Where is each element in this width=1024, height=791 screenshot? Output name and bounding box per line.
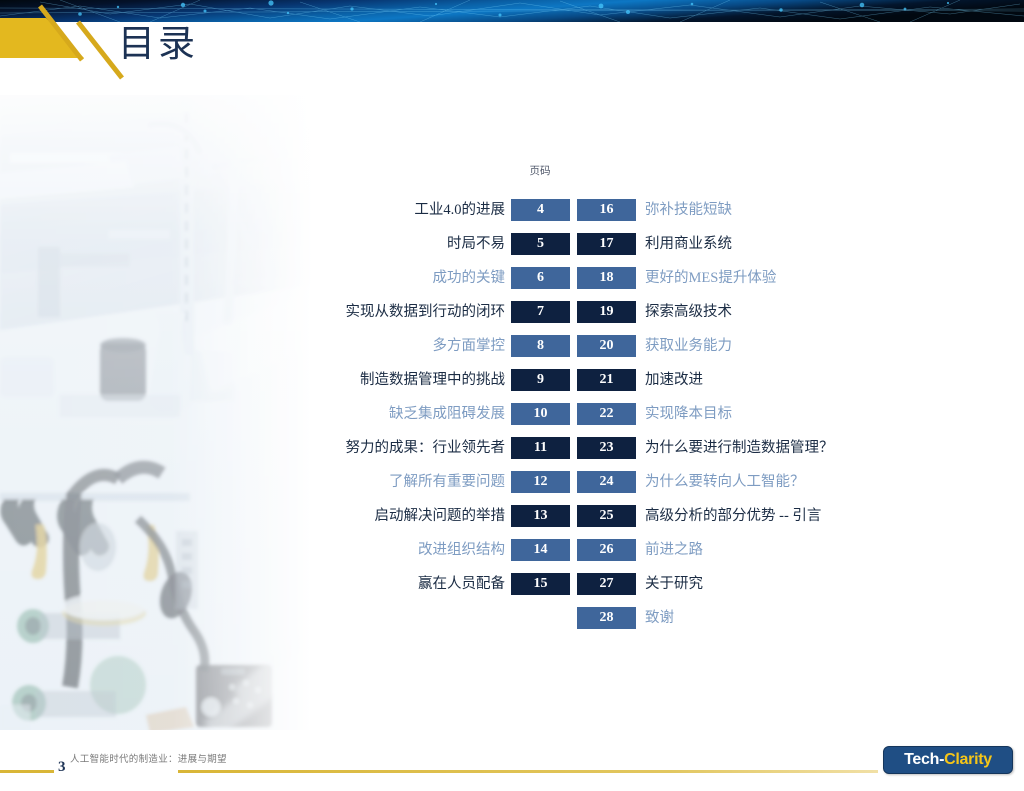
table-row[interactable]: 了解所有重要问题 12 24 为什么要转向人工智能？ [320, 471, 1010, 493]
logo-text-secondary: Clarity [944, 751, 992, 768]
table-row[interactable]: 工业4.0的进展 4 16 弥补技能短缺 [320, 199, 1010, 221]
table-row[interactable]: 制造数据管理中的挑战 9 21 加速改进 [320, 369, 1010, 391]
table-row[interactable]: 实现从数据到行动的闭环 7 19 探索高级技术 [320, 301, 1010, 323]
toc-right-label[interactable]: 致谢 [645, 608, 1005, 628]
toc-right-label[interactable]: 更好的MES提升体验 [645, 268, 1005, 288]
toc-right-page[interactable]: 27 [577, 573, 636, 595]
toc-left-label[interactable]: 制造数据管理中的挑战 [320, 370, 505, 390]
table-row[interactable]: 赢在人员配备 15 27 关于研究 [320, 573, 1010, 595]
toc-left-page[interactable]: 12 [511, 471, 570, 493]
toc-right-label[interactable]: 为什么要转向人工智能？ [645, 472, 1005, 492]
toc-left-label[interactable]: 时局不易 [320, 234, 505, 254]
toc-right-page[interactable]: 18 [577, 267, 636, 289]
table-row[interactable]: 成功的关键 6 18 更好的MES提升体验 [320, 267, 1010, 289]
toc-right-page[interactable]: 16 [577, 199, 636, 221]
toc-right-page[interactable]: 25 [577, 505, 636, 527]
toc-right-label[interactable]: 前进之路 [645, 540, 1005, 560]
table-row[interactable]: 努力的成果：行业领先者 11 23 为什么要进行制造数据管理？ [320, 437, 1010, 459]
toc-left-page[interactable]: 8 [511, 335, 570, 357]
toc-left-page[interactable]: 15 [511, 573, 570, 595]
factory-workbench-photo [0, 95, 312, 730]
table-row[interactable]: 多方面掌控 8 20 获取业务能力 [320, 335, 1010, 357]
table-row[interactable]: 启动解决问题的举措 13 25 高级分析的部分优势 -- 引言 [320, 505, 1010, 527]
toc-right-page[interactable]: 26 [577, 539, 636, 561]
toc-left-page[interactable]: 14 [511, 539, 570, 561]
footer-document-title: 人工智能时代的制造业：进展与期望 [70, 751, 227, 765]
footer-rule-right [178, 770, 878, 773]
toc-left-label[interactable]: 努力的成果：行业领先者 [320, 438, 505, 458]
toc-right-page[interactable]: 28 [577, 607, 636, 629]
toc-left-page[interactable]: 9 [511, 369, 570, 391]
tech-clarity-logo[interactable]: Tech-Clarity [883, 746, 1013, 774]
yellow-parallelogram-accent [0, 0, 420, 100]
table-row[interactable]: 28 致谢 [320, 607, 1010, 629]
toc-right-label[interactable]: 利用商业系统 [645, 234, 1005, 254]
toc-left-page[interactable]: 6 [511, 267, 570, 289]
toc-right-page[interactable]: 22 [577, 403, 636, 425]
toc-left-page [511, 607, 570, 629]
toc-left-label[interactable]: 赢在人员配备 [320, 574, 505, 594]
toc-right-label[interactable]: 获取业务能力 [645, 336, 1005, 356]
toc-left-label[interactable]: 改进组织结构 [320, 540, 505, 560]
toc-right-page[interactable]: 24 [577, 471, 636, 493]
toc-left-page[interactable]: 5 [511, 233, 570, 255]
toc-left-label[interactable]: 启动解决问题的举措 [320, 506, 505, 526]
page-column-header: 页码 [510, 163, 570, 178]
toc-right-label[interactable]: 高级分析的部分优势 -- 引言 [645, 506, 1005, 526]
toc-left-page[interactable]: 4 [511, 199, 570, 221]
toc-left-label[interactable]: 实现从数据到行动的闭环 [320, 302, 505, 322]
logo-text-primary: Tech- [904, 751, 944, 768]
toc-right-label[interactable]: 探索高级技术 [645, 302, 1005, 322]
toc-right-label[interactable]: 实现降本目标 [645, 404, 1005, 424]
table-row[interactable]: 时局不易 5 17 利用商业系统 [320, 233, 1010, 255]
toc-left-label[interactable]: 多方面掌控 [320, 336, 505, 356]
toc-right-label[interactable]: 弥补技能短缺 [645, 200, 1005, 220]
toc-left-label[interactable]: 了解所有重要问题 [320, 472, 505, 492]
toc-left-page[interactable]: 7 [511, 301, 570, 323]
toc-left-page[interactable]: 11 [511, 437, 570, 459]
toc-left-page[interactable]: 13 [511, 505, 570, 527]
toc-right-page[interactable]: 23 [577, 437, 636, 459]
toc-left-page[interactable]: 10 [511, 403, 570, 425]
toc-right-label[interactable]: 加速改进 [645, 370, 1005, 390]
footer: 3 人工智能时代的制造业：进展与期望 [0, 748, 1024, 791]
table-row[interactable]: 改进组织结构 14 26 前进之路 [320, 539, 1010, 561]
toc-left-label[interactable]: 工业4.0的进展 [320, 200, 505, 220]
toc-right-page[interactable]: 20 [577, 335, 636, 357]
footer-page-number: 3 [58, 759, 66, 776]
table-row[interactable]: 缺乏集成阻碍发展 10 22 实现降本目标 [320, 403, 1010, 425]
toc-left-label[interactable]: 成功的关键 [320, 268, 505, 288]
toc-right-page[interactable]: 19 [577, 301, 636, 323]
toc-right-page[interactable]: 21 [577, 369, 636, 391]
page-title: 目录 [118, 22, 198, 68]
footer-rule-left [0, 770, 54, 773]
toc-right-label[interactable]: 关于研究 [645, 574, 1005, 594]
toc-left-label[interactable]: 缺乏集成阻碍发展 [320, 404, 505, 424]
toc-right-page[interactable]: 17 [577, 233, 636, 255]
toc-right-label[interactable]: 为什么要进行制造数据管理？ [645, 438, 1005, 458]
